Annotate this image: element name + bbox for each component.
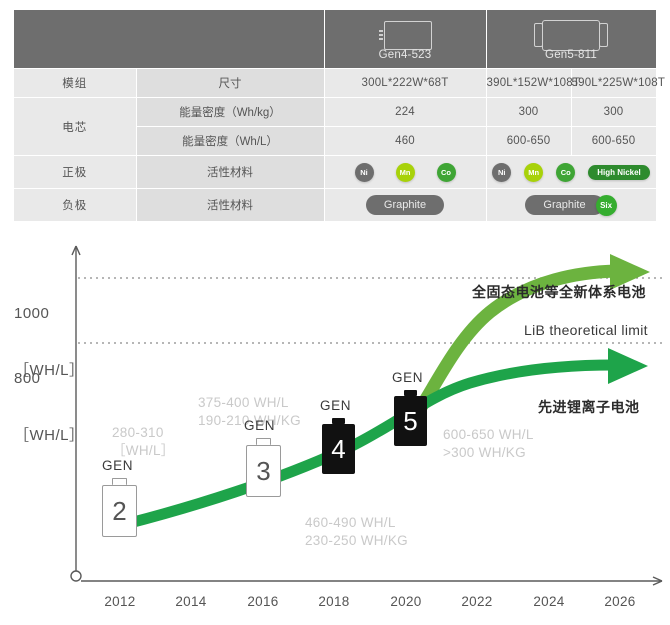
node-gen5-label: GEN [392, 370, 423, 385]
node-gen3[interactable]: GEN 3 [246, 438, 281, 497]
annotation-advanced-liion-battery: 先进锂离子电池 [538, 397, 640, 417]
cell-gen4-wh-l: 460 [324, 127, 486, 156]
x-tick-2016: 2016 [235, 594, 291, 609]
y-gridline-label-800: 800 ［WH/L］ [14, 331, 85, 483]
x-tick-2022: 2022 [449, 594, 505, 609]
row-group-module: 模组 [14, 69, 136, 98]
chip-co-icon: Co [437, 163, 456, 182]
node-gen2-number: 2 [112, 498, 126, 524]
cell-gen5a-wh-l: 600-650 [486, 127, 571, 156]
row-item-density-wh-l: 能量密度（Wh/L） [136, 127, 324, 156]
chip-six-icon: Six [596, 195, 617, 216]
table-row: 电芯 能量密度（Wh/kg） 224 300 300 [14, 98, 656, 127]
annotation-lib-theoretical-limit: LiB theoretical limit [524, 322, 648, 338]
cell-gen5b-wh-l: 600-650 [571, 127, 656, 156]
chip-ni-icon: Ni [355, 163, 374, 182]
row-item-density-wh-kg: 能量密度（Wh/kg） [136, 98, 324, 127]
spec-note-gen2: 280-310 ［WH/L］ [112, 424, 175, 460]
chip-mn-icon: Mn [396, 163, 415, 182]
spec-note-gen5: 600-650 WH/L >300 WH/KG [443, 426, 534, 462]
cell-gen5b-wh-kg: 300 [571, 98, 656, 127]
table-row: 模组 尺寸 300L*222W*68T 390L*152W*108T 590L*… [14, 69, 656, 98]
node-gen4-number: 4 [331, 436, 345, 462]
chip-co-icon: Co [556, 163, 575, 182]
cell-gen4-anode: Graphite [324, 189, 486, 222]
row-item-size: 尺寸 [136, 69, 324, 98]
row-group-anode: 负极 [14, 189, 136, 222]
table-row: 负极 活性材料 Graphite Graphite Six [14, 189, 656, 222]
cell-gen4-cathode-chips: Ni Mn Co [324, 156, 486, 189]
x-tick-2024: 2024 [521, 594, 577, 609]
arrowhead-advanced-liion [608, 348, 648, 384]
node-gen3-label: GEN [244, 418, 275, 433]
row-group-cell: 电芯 [14, 98, 136, 156]
node-gen4[interactable]: GEN 4 [322, 418, 355, 474]
cylindrical-battery-icon [487, 19, 656, 51]
cell-gen5b-size: 590L*225W*108T [571, 69, 656, 98]
node-gen2-label: GEN [102, 458, 133, 473]
header-gen4-cell: Gen4-523 [324, 10, 486, 69]
annotation-solid-state-battery: 全固态电池等全新体系电池 [472, 282, 646, 302]
cell-gen5-anode: Graphite Six [486, 189, 656, 222]
header-gen5-cell: Gen5-811 [486, 10, 656, 69]
cell-gen5-cathode-chips: Ni Mn Co High Nickel [486, 156, 656, 189]
node-gen2[interactable]: GEN 2 [102, 478, 137, 537]
spec-note-gen4: 460-490 WH/L 230-250 WH/KG [305, 514, 408, 550]
cell-gen5a-wh-kg: 300 [486, 98, 571, 127]
x-tick-2012: 2012 [92, 594, 148, 609]
row-group-cathode: 正极 [14, 156, 136, 189]
badge-graphite: Graphite [366, 195, 444, 215]
header-gen5-label: Gen5-811 [487, 49, 656, 61]
prismatic-battery-icon [325, 19, 486, 51]
battery-cap-icon [256, 438, 271, 445]
battery-cap-icon [112, 478, 127, 485]
node-gen5[interactable]: GEN 5 [394, 390, 427, 446]
battery-spec-table: Gen4-523 Gen5-811 模组 尺寸 300L*222W*68T 39… [14, 10, 657, 222]
curve-advanced-liion [118, 365, 614, 526]
node-gen3-number: 3 [256, 458, 270, 484]
cell-gen4-size: 300L*222W*68T [324, 69, 486, 98]
node-gen4-label: GEN [320, 398, 351, 413]
chip-mn-icon: Mn [524, 163, 543, 182]
energy-density-roadmap-chart: 1000 ［WH/L］ 800 ［WH/L］ 全固态电池等全新体系电池 LiB … [0, 228, 670, 625]
cell-gen5a-size: 390L*152W*108T [486, 69, 571, 98]
header-corner-cell [14, 10, 324, 69]
chip-ni-icon: Ni [492, 163, 511, 182]
node-gen5-number: 5 [403, 408, 417, 434]
x-tick-2026: 2026 [592, 594, 648, 609]
badge-high-nickel: High Nickel [588, 165, 650, 180]
badge-graphite: Graphite [525, 195, 603, 215]
row-item-active-material-cathode: 活性材料 [136, 156, 324, 189]
x-tick-2020: 2020 [378, 594, 434, 609]
table-header-row: Gen4-523 Gen5-811 [14, 10, 656, 69]
table-row: 正极 活性材料 Ni Mn Co Ni Mn Co High Nickel [14, 156, 656, 189]
header-gen4-label: Gen4-523 [325, 49, 486, 61]
row-item-active-material-anode: 活性材料 [136, 189, 324, 222]
x-tick-2018: 2018 [306, 594, 362, 609]
axis-origin-dot [71, 571, 81, 581]
cell-gen4-wh-kg: 224 [324, 98, 486, 127]
x-tick-2014: 2014 [163, 594, 219, 609]
